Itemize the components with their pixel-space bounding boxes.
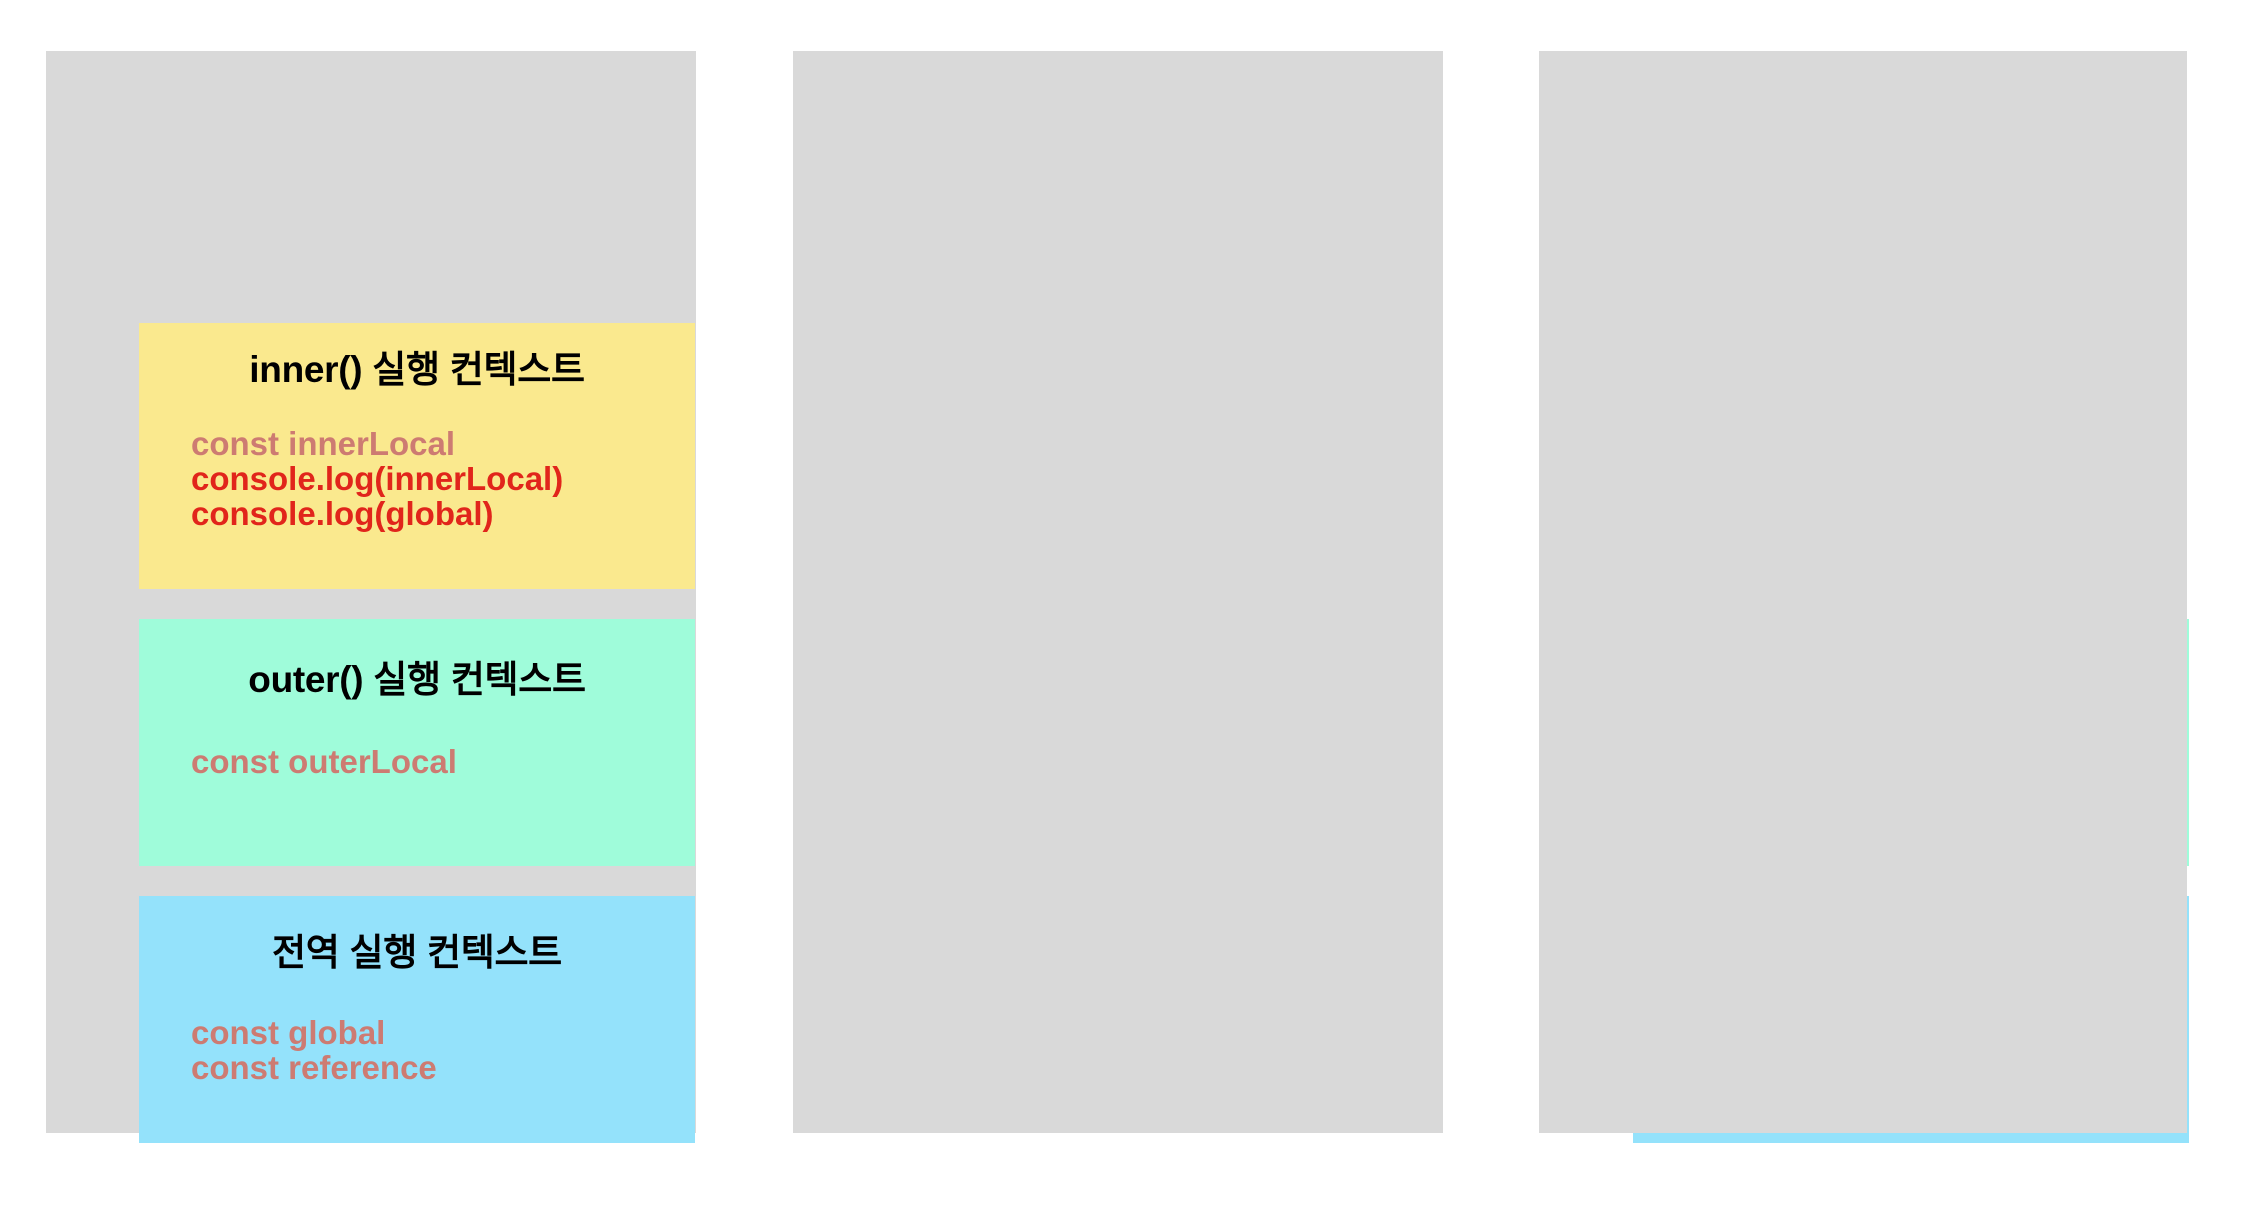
inner-context-title: inner() 실행 컨텍스트: [139, 347, 695, 393]
diagram-canvas: inner() 실행 컨텍스트 const innerLocal console…: [0, 0, 2248, 1208]
code-line: const reference: [191, 1051, 695, 1086]
global-context-code-lines: const global const reference: [191, 1016, 695, 1085]
outer-context-title: outer() 실행 컨텍스트: [139, 657, 695, 703]
outer-context-code-lines: const outerLocal: [191, 745, 695, 780]
code-line: const outerLocal: [191, 745, 695, 780]
call-stack-panel-2: outer() 실행 컨텍스트 const outerLocal console…: [793, 51, 1443, 1133]
code-line: const global: [191, 1016, 695, 1051]
code-line: console.log(innerLocal): [191, 462, 695, 497]
outer-execution-context-frame: outer() 실행 컨텍스트 const outerLocal: [139, 619, 695, 866]
code-line: const innerLocal: [191, 427, 695, 462]
call-stack-panel-3: 전역 실행 컨텍스트 const global const reference …: [1539, 51, 2187, 1133]
global-execution-context-frame: 전역 실행 컨텍스트 const global const reference: [139, 896, 695, 1143]
code-line: console.log(global): [191, 497, 695, 532]
call-stack-panel-1: inner() 실행 컨텍스트 const innerLocal console…: [46, 51, 696, 1133]
inner-execution-context-frame: inner() 실행 컨텍스트 const innerLocal console…: [139, 323, 695, 589]
global-context-title: 전역 실행 컨텍스트: [139, 930, 695, 976]
inner-context-code-lines: const innerLocal console.log(innerLocal)…: [191, 427, 695, 531]
